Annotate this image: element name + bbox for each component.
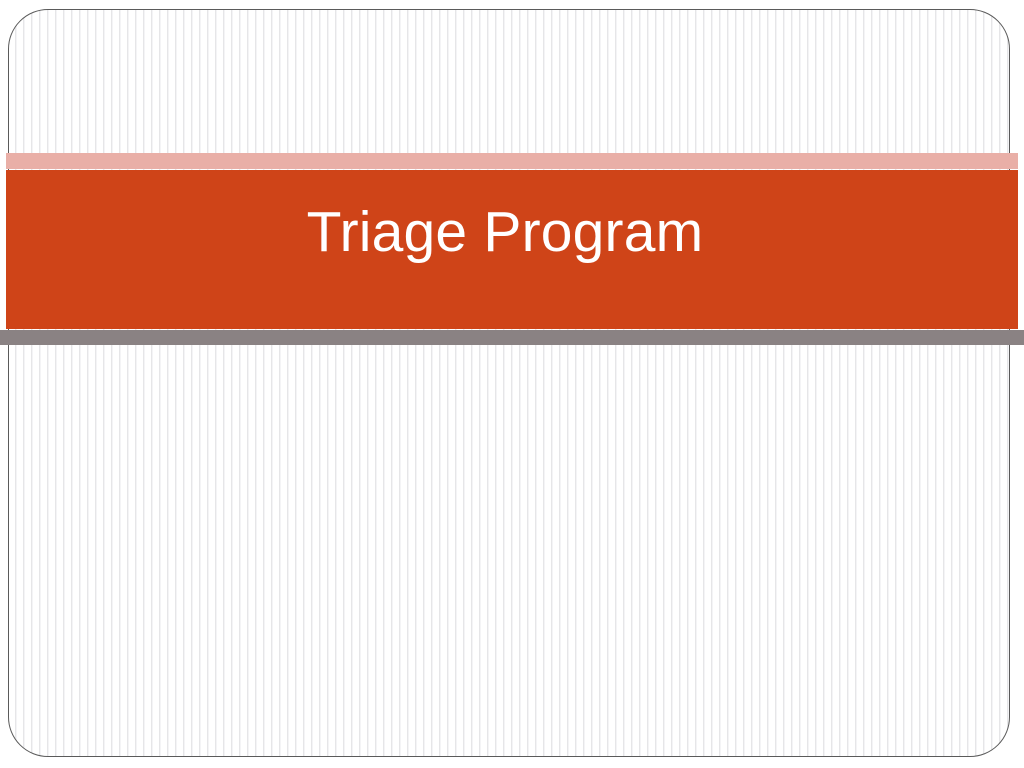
banner-rule-band	[0, 330, 1024, 345]
slide-body-placeholder	[17, 356, 1010, 757]
slide-page: Triage Program	[0, 0, 1024, 768]
slide-frame	[8, 9, 1010, 757]
slide-title: Triage Program	[6, 153, 1018, 312]
title-banner: Triage Program	[6, 153, 1018, 345]
